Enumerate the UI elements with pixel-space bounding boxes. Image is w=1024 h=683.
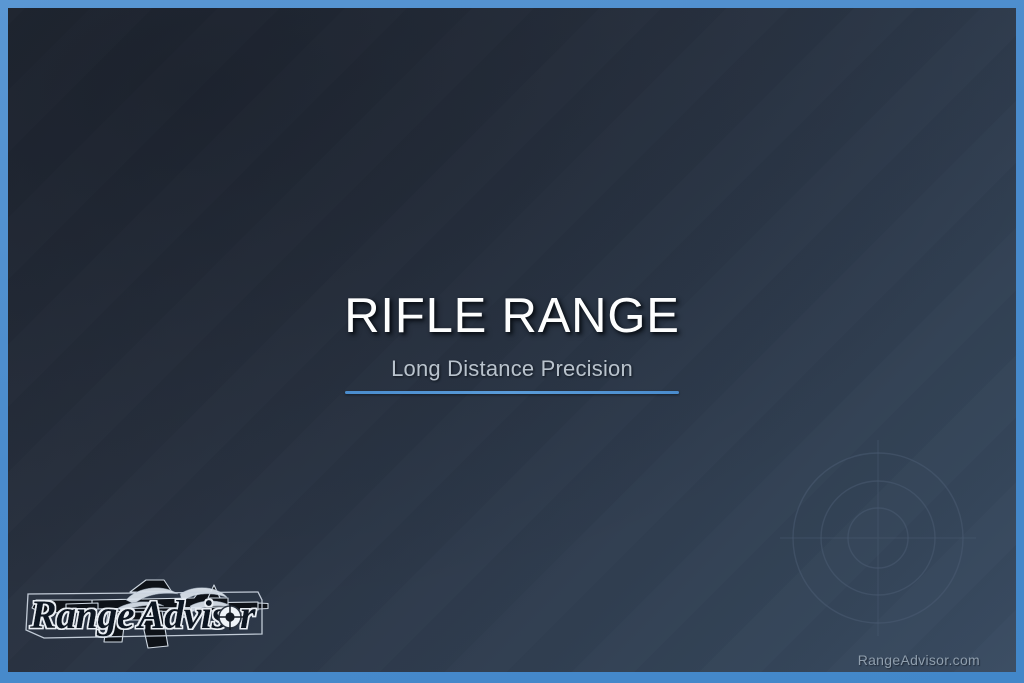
horizontal-rule-divider — [345, 391, 679, 394]
slide-canvas: RIFLE RANGE Long Distance Precision — [8, 8, 1016, 672]
svg-text:r: r — [240, 592, 256, 637]
site-watermark: RangeAdvisor.com — [858, 652, 980, 668]
page-subtitle: Long Distance Precision — [8, 356, 1016, 382]
rifle-logo-icon: Range Advis r — [22, 560, 290, 664]
svg-text:Advis: Advis — [135, 592, 227, 637]
page-title: RIFLE RANGE — [8, 291, 1016, 342]
presentation-slide: RIFLE RANGE Long Distance Precision — [0, 0, 1024, 683]
svg-text:Range: Range — [29, 592, 134, 637]
target-crosshair-icon — [780, 440, 976, 636]
